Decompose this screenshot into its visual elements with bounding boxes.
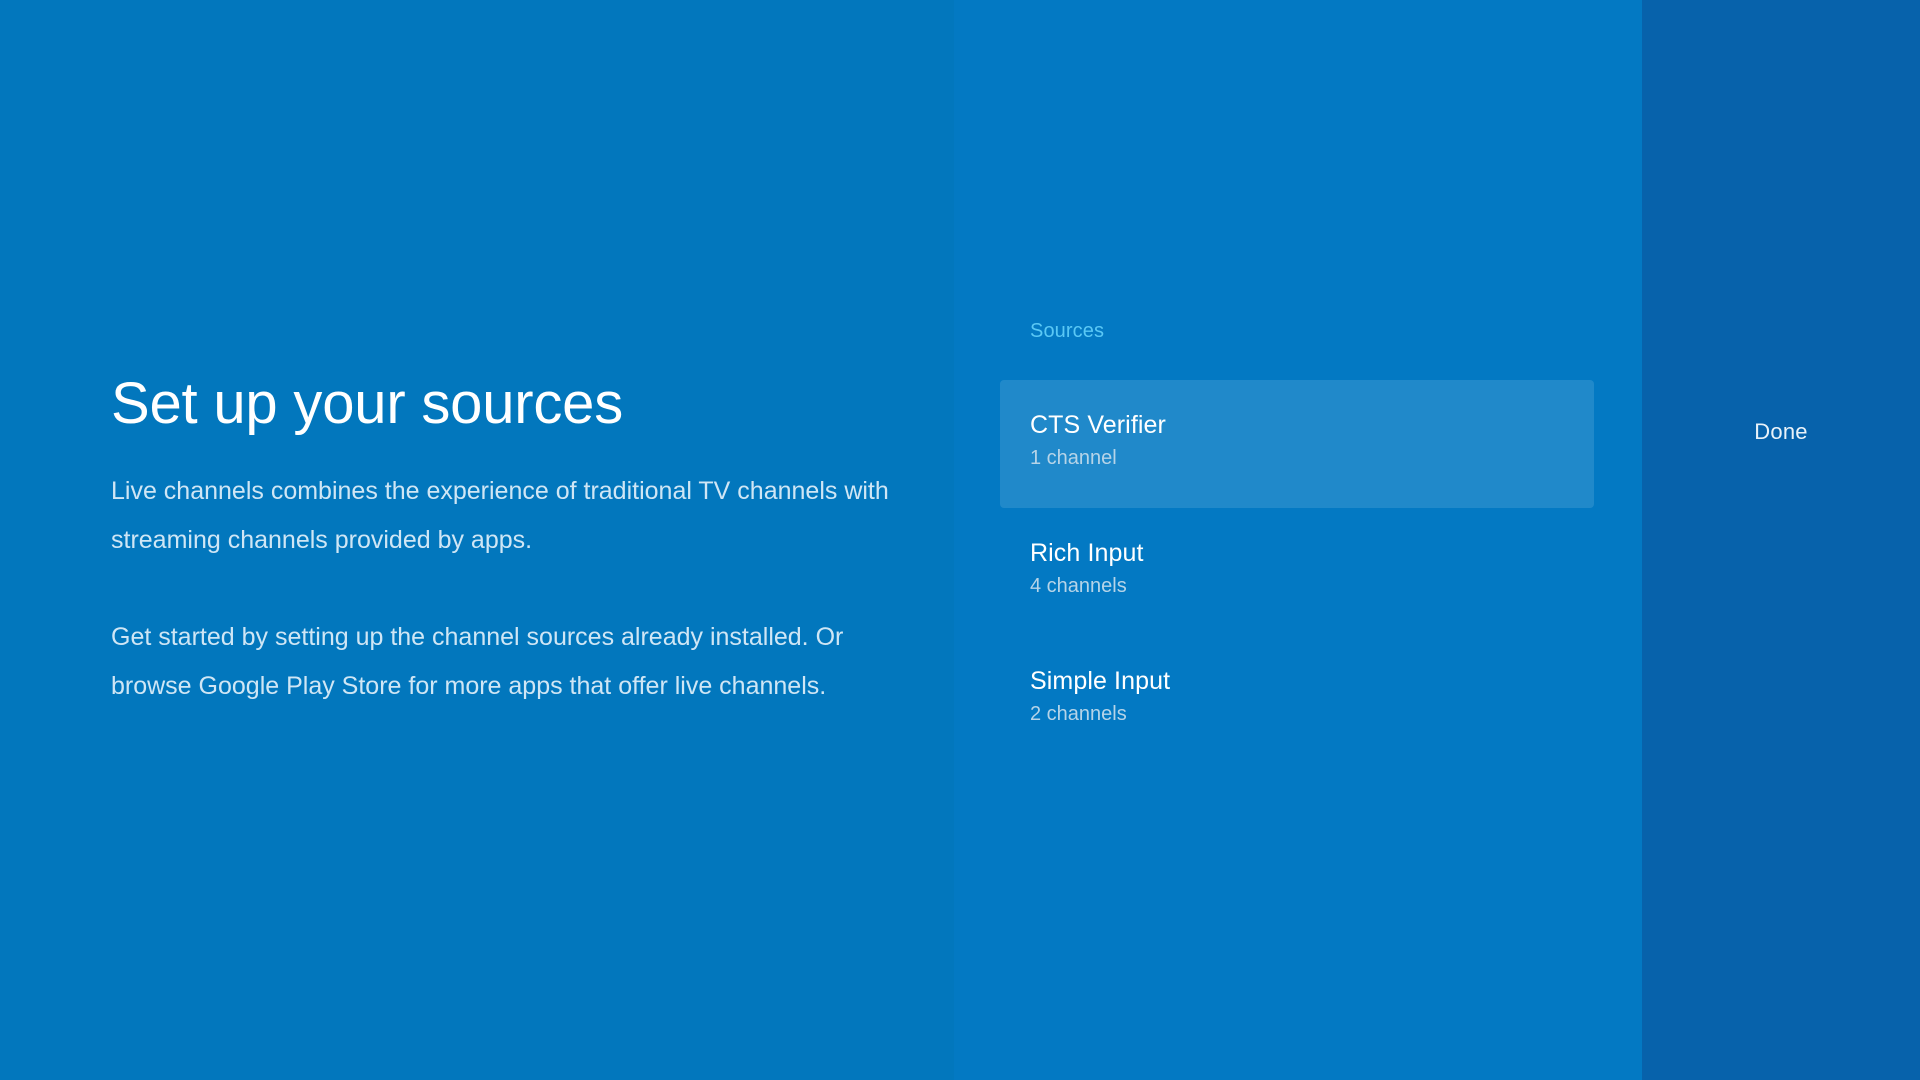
intro-content: Set up your sources Live channels combin… (111, 372, 901, 711)
intro-paragraph-1: Live channels combines the experience of… (111, 467, 891, 565)
source-item-title: Rich Input (1030, 539, 1594, 568)
setup-screen: Set up your sources Live channels combin… (0, 0, 1920, 1080)
source-item-channel-count: 4 channels (1030, 574, 1594, 598)
page-title: Set up your sources (111, 372, 901, 437)
source-item-simple-input[interactable]: Simple Input 2 channels (1000, 636, 1594, 764)
sources-list: CTS Verifier 1 channel Rich Input 4 chan… (1000, 380, 1594, 764)
source-item-channel-count: 1 channel (1030, 446, 1594, 470)
done-button[interactable]: Done (1642, 416, 1920, 448)
sources-section-header: Sources (1030, 320, 1104, 343)
source-item-title: CTS Verifier (1030, 411, 1594, 440)
intro-paragraph-2: Get started by setting up the channel so… (111, 613, 891, 711)
actions-panel (1642, 0, 1920, 1080)
source-item-rich-input[interactable]: Rich Input 4 channels (1000, 508, 1594, 636)
source-item-title: Simple Input (1030, 667, 1594, 696)
source-item-channel-count: 2 channels (1030, 702, 1594, 726)
source-item-cts-verifier[interactable]: CTS Verifier 1 channel (1000, 380, 1594, 508)
